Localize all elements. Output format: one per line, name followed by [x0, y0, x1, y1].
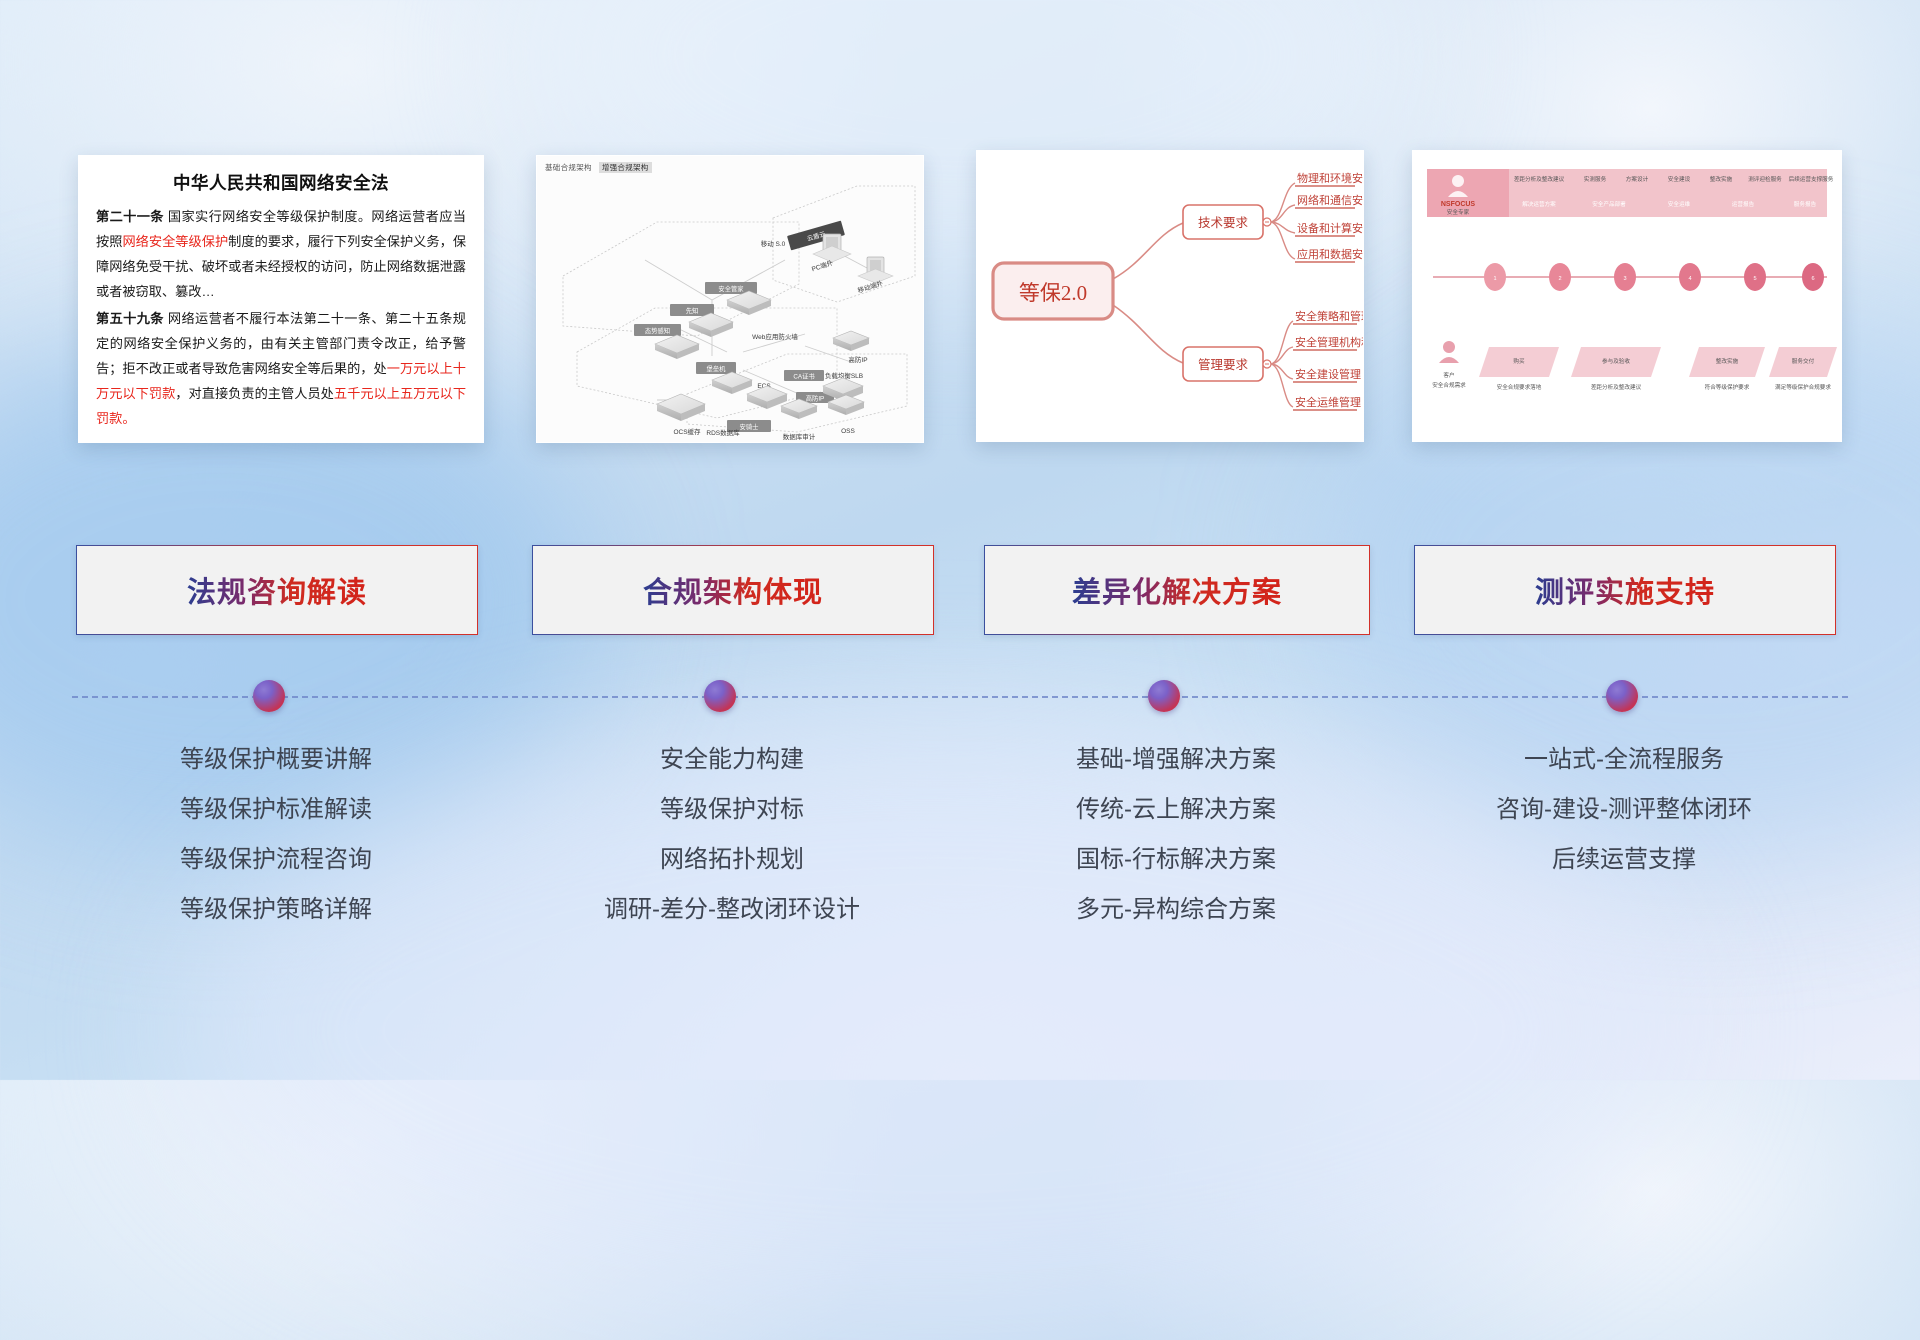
mindmap: 等保2.0 技术要求: [977, 151, 1363, 441]
brand-label: NSFOCUS: [1441, 201, 1476, 208]
stage-box-2[interactable]: 合规架构体现: [532, 545, 934, 635]
law-article-number: 第二十一条: [96, 209, 164, 224]
timeline-dot-1[interactable]: [253, 680, 285, 712]
detail-list-4: 一站式-全流程服务 咨询-建设-测评整体闭环 后续运营支撑: [1414, 735, 1834, 885]
roadmap-step: 6: [1811, 276, 1814, 282]
list-item: 等级保护策略详解: [76, 885, 476, 935]
mindmap-branch-tech-label: 技术要求: [1198, 216, 1249, 230]
roadmap-row-item: 运营报告: [1732, 200, 1755, 208]
svg-text:CA证书: CA证书: [793, 372, 814, 381]
mindmap-leaf: 安全运维管理: [1295, 395, 1361, 409]
roadmap-header-item: 整改实施: [1710, 175, 1733, 183]
mindmap-canvas: 等保2.0 技术要求: [977, 151, 1363, 441]
law-article-number: 第五十九条: [96, 311, 164, 326]
list-item: 国标-行标解决方案: [984, 835, 1368, 885]
roadmap-bottom-sub: 安全合规要求落地: [1497, 383, 1542, 391]
list-item: 调研-差分-整改闭环设计: [532, 885, 932, 935]
detail-list-2: 安全能力构建 等级保护对标 网络拓扑规划 调研-差分-整改闭环设计: [532, 735, 932, 935]
mindmap-leaf: 安全建设管理: [1295, 367, 1361, 381]
svg-text:安全管家: 安全管家: [718, 284, 744, 293]
mindmap-leaf: 网络和通信安全: [1297, 193, 1363, 207]
roadmap-diagram: NSFOCUS 安全专家 差距分析及整改建议 实测服务 方案设计 安全建设 整改…: [1413, 151, 1841, 441]
law-paragraph-21: 第二十一条 国家实行网络安全等级保护制度。网络运营者应当按照网络安全等级保护制度…: [96, 204, 466, 304]
roadmap-step: 5: [1753, 276, 1756, 282]
list-item: 等级保护流程咨询: [76, 835, 476, 885]
list-item: 传统-云上解决方案: [984, 785, 1368, 835]
timeline-dashed-line: [72, 696, 1848, 698]
list-item: 一站式-全流程服务: [1414, 735, 1834, 785]
preview-cards-row: 中华人民共和国网络安全法 第二十一条 国家实行网络安全等级保护制度。网络运营者应…: [0, 0, 1920, 460]
roadmap-step: 2: [1558, 276, 1561, 282]
mindmap-root-label: 等保2.0: [1019, 281, 1087, 305]
card-cybersecurity-law[interactable]: 中华人民共和国网络安全法 第二十一条 国家实行网络安全等级保护制度。网络运营者应…: [78, 155, 484, 443]
svg-text:堡垒机: 堡垒机: [707, 364, 727, 373]
roadmap-canvas: NSFOCUS 安全专家 差距分析及整改建议 实测服务 方案设计 安全建设 整改…: [1413, 151, 1841, 441]
architecture-diagram: 基础合规架构增强合规架构: [537, 156, 923, 442]
list-item: 咨询-建设-测评整体闭环: [1414, 785, 1834, 835]
mindmap-leaf: 设备和计算安全: [1297, 221, 1363, 235]
stage-labels-row: 法规咨询解读 合规架构体现 差异化解决方案 测评实施支持: [0, 545, 1920, 650]
law-paragraph-59: 第五十九条 网络运营者不履行本法第二十一条、第二十五条规定的网络安全保护义务的，…: [96, 306, 466, 431]
stage-box-1[interactable]: 法规咨询解读: [76, 545, 478, 635]
stage-box-3[interactable]: 差异化解决方案: [984, 545, 1370, 635]
roadmap-bottom-sub: 满足等级保护合规要求: [1775, 383, 1831, 391]
roadmap-row-item: 安全产品部署: [1592, 200, 1626, 208]
list-item: 安全能力构建: [532, 735, 932, 785]
timeline-dot-3[interactable]: [1148, 680, 1180, 712]
roadmap-bottom-item: 整改实施: [1716, 357, 1739, 365]
svg-text:高防IP: 高防IP: [806, 394, 825, 403]
svg-text:安骑士: 安骑士: [740, 422, 759, 431]
detail-list-1: 等级保护概要讲解 等级保护标准解读 等级保护流程咨询 等级保护策略详解: [76, 735, 476, 935]
roadmap-row-item: 解决运营方案: [1522, 200, 1556, 208]
timeline-dot-4[interactable]: [1606, 680, 1638, 712]
roadmap-step: 3: [1623, 276, 1626, 282]
roadmap-step: 4: [1688, 276, 1691, 282]
svg-text:高防IP: 高防IP: [848, 355, 867, 364]
stage-box-4[interactable]: 测评实施支持: [1414, 545, 1836, 635]
detail-lists-row: 等级保护概要讲解 等级保护标准解读 等级保护流程咨询 等级保护策略详解 安全能力…: [0, 735, 1920, 965]
svg-text:PC端外: PC端外: [810, 258, 834, 274]
roadmap-step: 1: [1493, 276, 1496, 282]
timeline: [0, 672, 1920, 732]
svg-text:移动 S.0: 移动 S.0: [761, 239, 786, 248]
customer-sub-label: 安全合规需求: [1432, 381, 1466, 389]
list-item: 基础-增强解决方案: [984, 735, 1368, 785]
svg-text:态势感知: 态势感知: [645, 326, 670, 335]
list-item: 多元-异构综合方案: [984, 885, 1368, 935]
customer-label: 客户: [1443, 371, 1454, 379]
timeline-dot-2[interactable]: [704, 680, 736, 712]
svg-text:OCS缓存: OCS缓存: [673, 427, 701, 436]
roadmap-bottom-item: 服务交付: [1792, 357, 1815, 365]
roadmap-header-item: 安全建设: [1668, 175, 1691, 183]
roadmap-bottom-item: 购买: [1513, 357, 1525, 365]
stage-label-1: 法规咨询解读: [187, 569, 367, 611]
list-item: 等级保护标准解读: [76, 785, 476, 835]
card-nsfocus-roadmap[interactable]: NSFOCUS 安全专家 差距分析及整改建议 实测服务 方案设计 安全建设 整改…: [1412, 150, 1842, 442]
list-item: 网络拓扑规划: [532, 835, 932, 885]
mindmap-leaf: 物理和环境安全: [1297, 171, 1363, 185]
card-mindmap-dengbao[interactable]: 等保2.0 技术要求: [976, 150, 1364, 442]
law-body: 中华人民共和国网络安全法 第二十一条 国家实行网络安全等级保护制度。网络运营者应…: [79, 156, 483, 442]
roadmap-header-item: 测评迎检服务: [1748, 175, 1782, 183]
roadmap-header-item: 后续运营支撑服务: [1789, 175, 1834, 183]
list-item: 等级保护对标: [532, 785, 932, 835]
roadmap-row-item: 服务报告: [1794, 200, 1817, 208]
customer-avatar-icon: [1439, 341, 1459, 363]
law-title: 中华人民共和国网络安全法: [96, 170, 466, 195]
roadmap-bottom-sub: 符合等级保护要求: [1705, 383, 1750, 391]
roadmap-header-item: 差距分析及整改建议: [1514, 175, 1565, 183]
svg-text:Web应用防火墙: Web应用防火墙: [752, 332, 798, 341]
architecture-canvas: 态势感知 先知 安全管家 云盾云 堡垒机 安骑士 CA证书: [537, 156, 923, 442]
stage-label-4: 测评实施支持: [1535, 569, 1715, 611]
roadmap-header-item: 方案设计: [1626, 175, 1649, 183]
law-run-highlight: 网络安全等级保护: [122, 234, 228, 249]
mindmap-leaf: 安全管理机构和人员: [1295, 335, 1363, 349]
roadmap-header-item: 实测服务: [1584, 175, 1607, 183]
mindmap-leaf: 应用和数据安全: [1297, 247, 1363, 261]
brand-sub-label: 安全专家: [1447, 208, 1470, 216]
detail-list-3: 基础-增强解决方案 传统-云上解决方案 国标-行标解决方案 多元-异构综合方案: [984, 735, 1368, 935]
card-compliance-architecture[interactable]: 基础合规架构增强合规架构: [536, 155, 924, 443]
law-run: ，对直接负责的主管人员处: [175, 386, 334, 401]
stage-label-3: 差异化解决方案: [1072, 569, 1282, 611]
mindmap-branch-mgmt-label: 管理要求: [1198, 357, 1249, 372]
svg-text:OSS: OSS: [841, 428, 855, 435]
mindmap-leaf: 安全策略和管理制度: [1295, 309, 1363, 323]
svg-text:先知: 先知: [686, 306, 699, 315]
roadmap-bottom-item: 参与及验收: [1602, 357, 1630, 365]
svg-text:RDS数据库: RDS数据库: [706, 428, 740, 437]
stage-label-2: 合规架构体现: [643, 569, 823, 611]
list-item: 等级保护概要讲解: [76, 735, 476, 785]
svg-text:数据库审计: 数据库审计: [783, 432, 816, 441]
roadmap-bottom-sub: 差距分析及整改建议: [1591, 383, 1642, 391]
roadmap-row-item: 安全运维: [1668, 200, 1691, 208]
list-item: 后续运营支撑: [1414, 835, 1834, 885]
